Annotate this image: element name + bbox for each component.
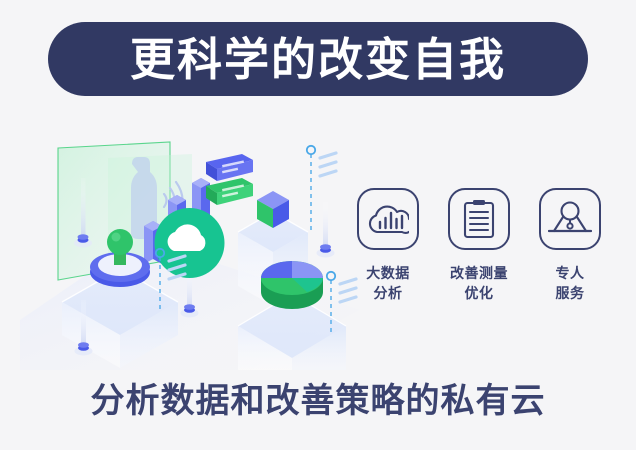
clipboard-icon <box>448 188 510 250</box>
feature-label-line2: 服务 <box>556 284 585 304</box>
header-banner: 更科学的改变自我 <box>48 22 588 96</box>
page-title: 更科学的改变自我 <box>130 37 506 82</box>
feature-label-big-data-analysis: 大数据 分析 <box>366 264 410 305</box>
feature-label-dedicated-service: 专人 服务 <box>556 264 585 305</box>
dashed-connector-top <box>307 146 336 232</box>
feature-label-line1: 专人 <box>556 266 585 282</box>
pie-chart-3d <box>261 261 323 309</box>
feature-label-line2: 优化 <box>450 284 508 304</box>
illustration-svg <box>20 120 360 370</box>
feature-label-line1: 大数据 <box>366 266 410 282</box>
feature-label-line2: 分析 <box>366 284 410 304</box>
feature-list: 大数据 分析 改善测量 优化 <box>348 188 610 333</box>
banner-stage: 更科学的改变自我 <box>0 0 636 450</box>
feature-label-line1: 改善测量 <box>450 266 508 282</box>
floating-pole-right <box>317 202 335 258</box>
feature-item-dedicated-service[interactable]: 专人 服务 <box>530 188 610 305</box>
tag-green <box>206 178 253 205</box>
feature-item-measure-optimize[interactable]: 改善测量 优化 <box>439 188 519 305</box>
feature-label-measure-optimize: 改善测量 优化 <box>450 264 508 305</box>
footer-tagline: 分析数据和改善策略的私有云 <box>0 383 636 420</box>
isometric-illustration <box>20 120 360 370</box>
feature-item-big-data-analysis[interactable]: 大数据 分析 <box>348 188 428 305</box>
cloud-bar-chart-icon <box>357 188 419 250</box>
support-agent-icon <box>539 188 601 250</box>
tag-blue <box>206 154 253 181</box>
